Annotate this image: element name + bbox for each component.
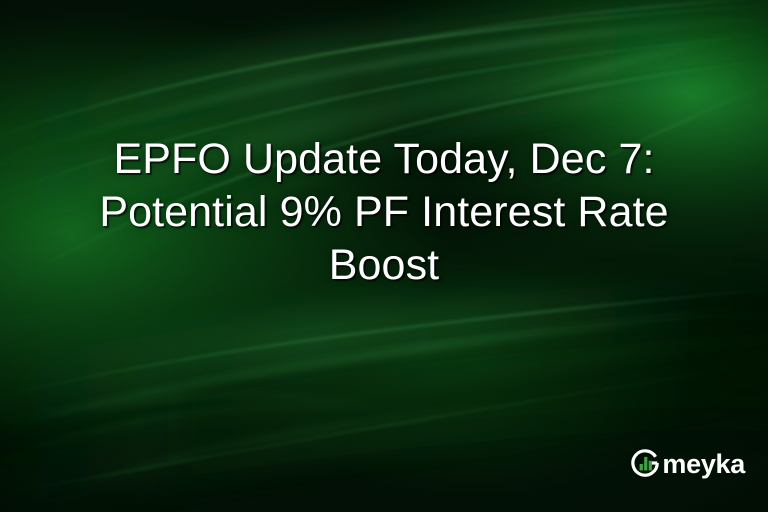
page-title: EPFO Update Today, Dec 7: Potential 9% P…: [39, 133, 729, 292]
brand-logo[interactable]: meyka: [631, 448, 745, 478]
headline-container: EPFO Update Today, Dec 7: Potential 9% P…: [0, 104, 768, 321]
article-banner-card: EPFO Update Today, Dec 7: Potential 9% P…: [0, 0, 768, 512]
brand-name: meyka: [662, 451, 745, 478]
circular-bar-chart-icon: [631, 448, 661, 478]
